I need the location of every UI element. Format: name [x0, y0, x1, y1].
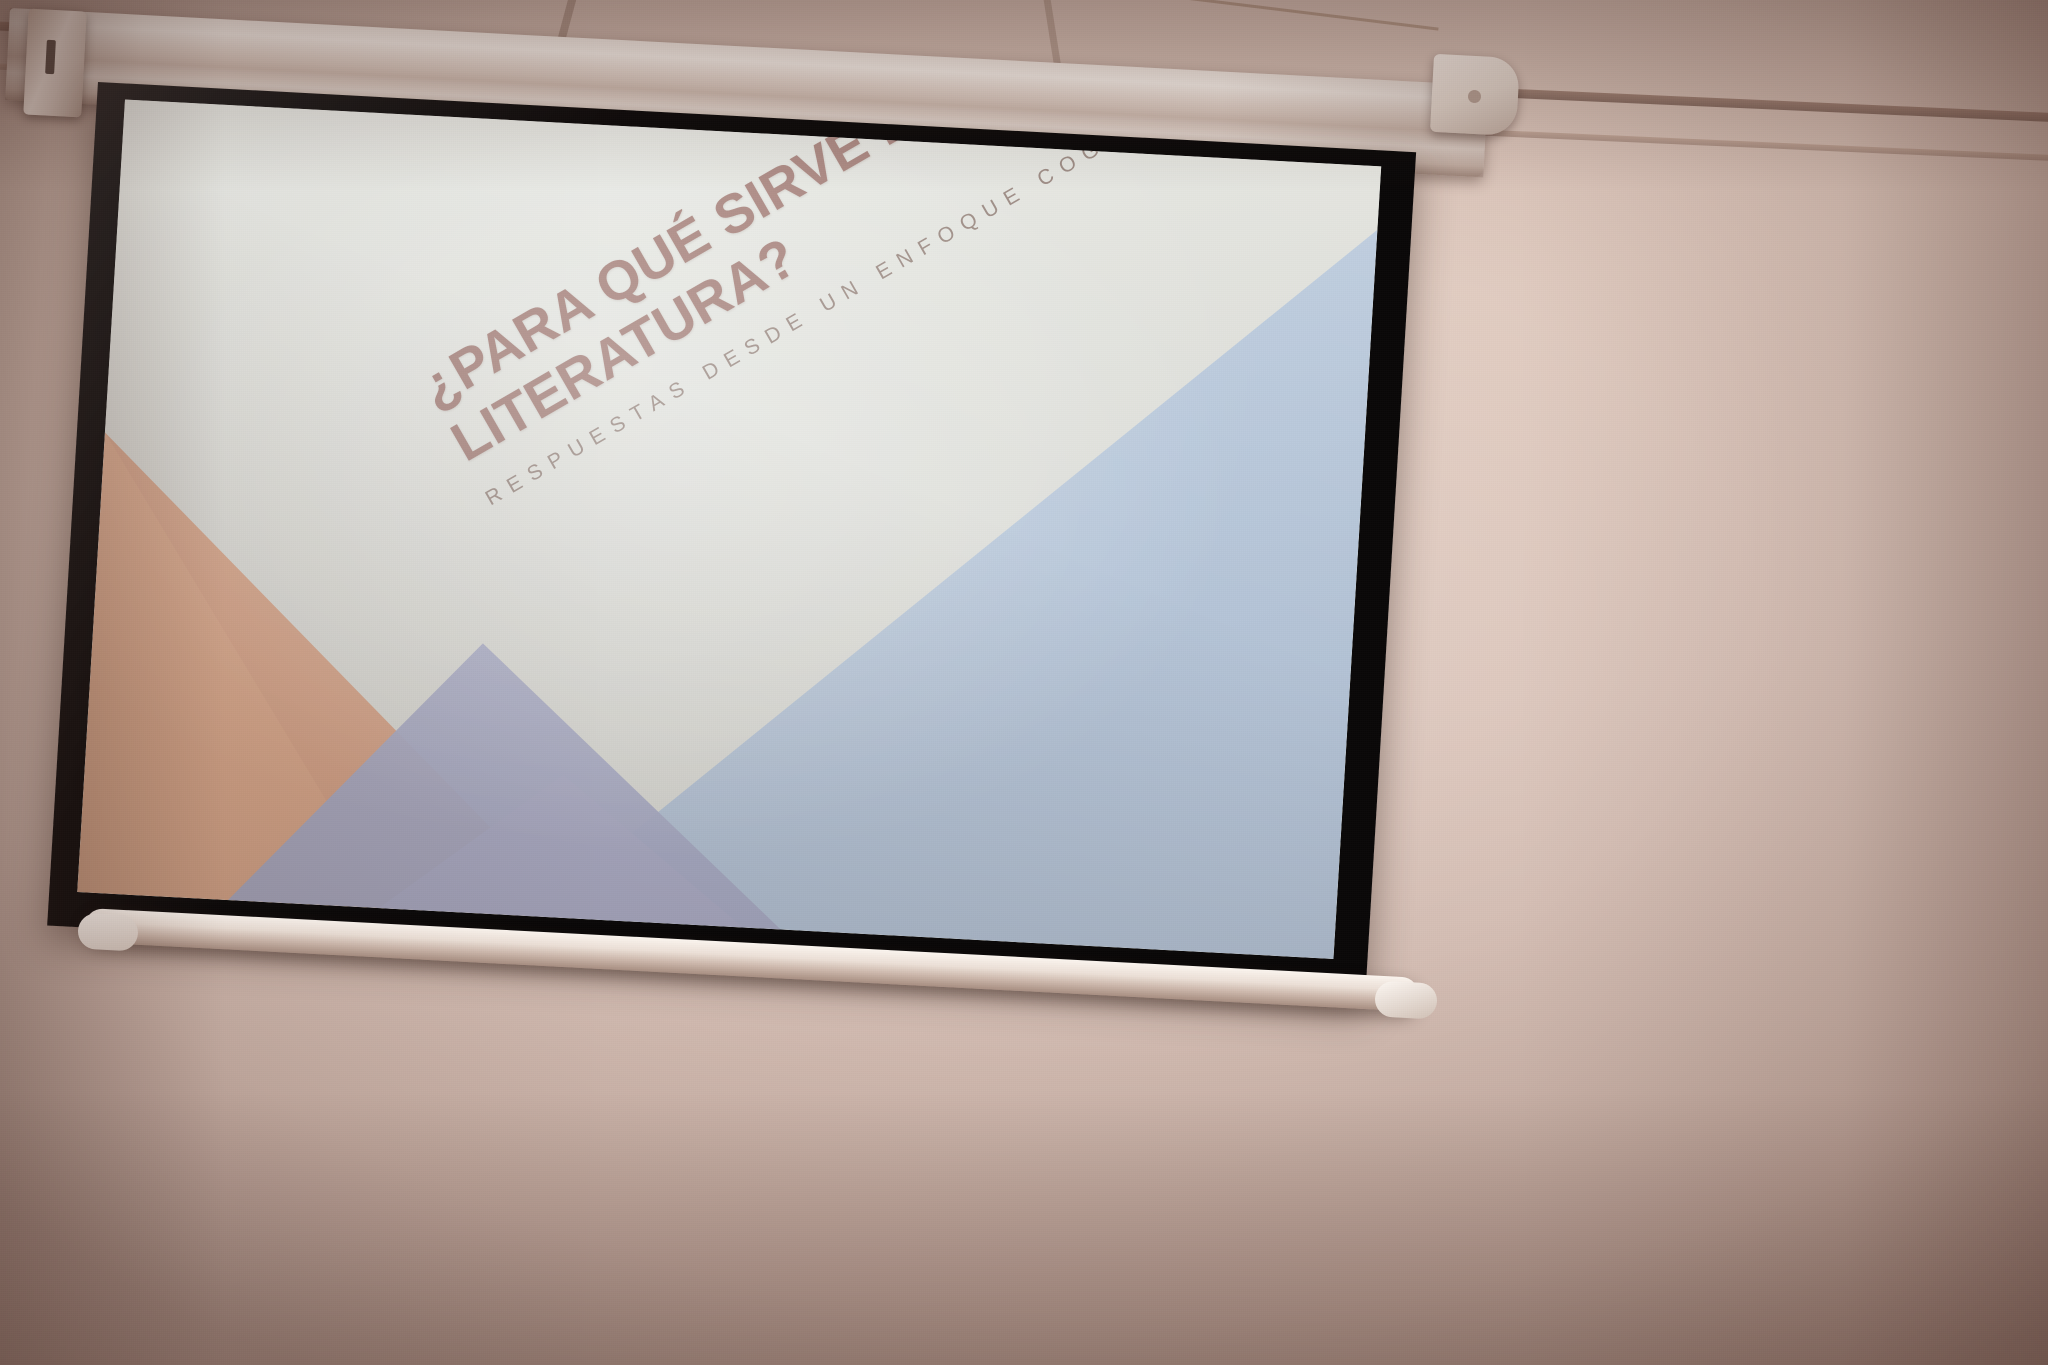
room-photo: ¿PARA QUÉ SIRVE LEER LITERATURA? RESPUES…	[0, 0, 2048, 1365]
photo-vignette	[0, 0, 2048, 1365]
